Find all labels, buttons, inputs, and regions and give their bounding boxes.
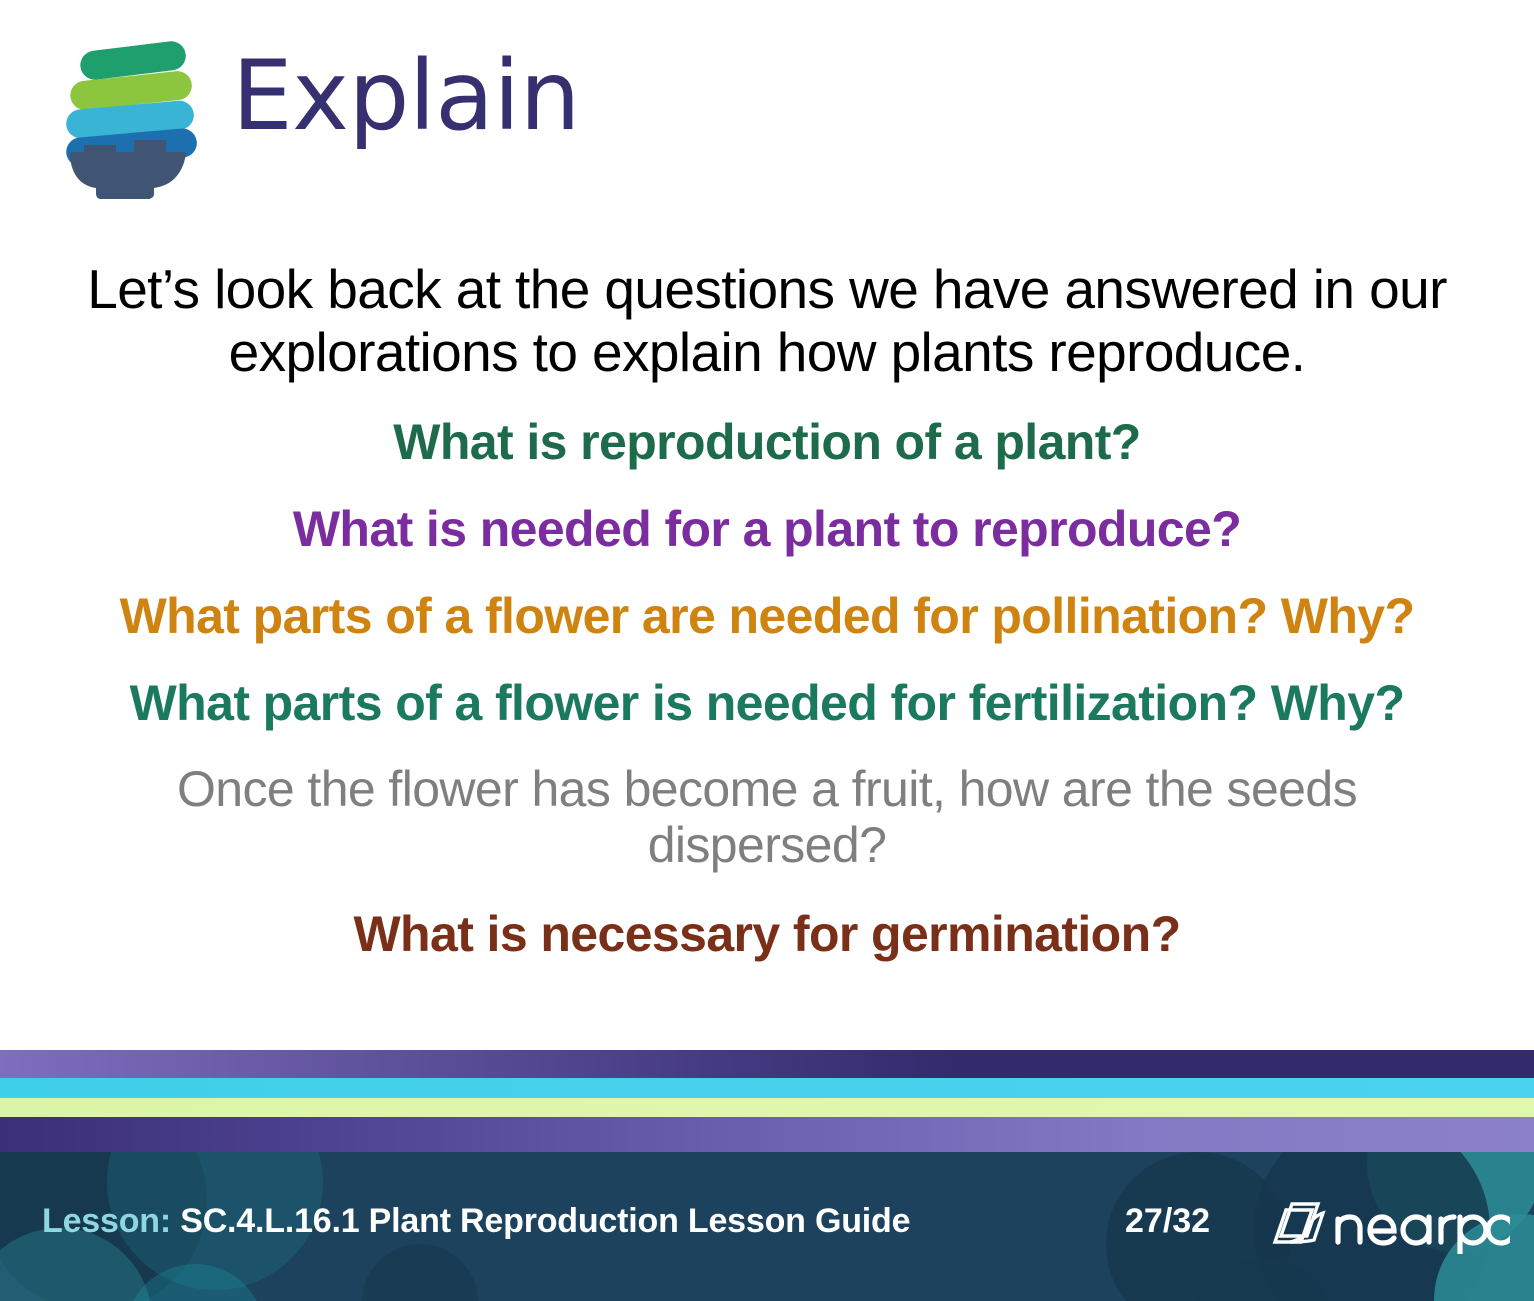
slide-header: Explain [0, 0, 1534, 225]
nearpod-mark-icon [1275, 1204, 1323, 1242]
intro-text: Let’s look back at the questions we have… [52, 258, 1482, 383]
question-item-3: What parts of a flower are needed for po… [52, 589, 1482, 644]
slide-footer: Lesson: SC.4.L.16.1 Plant Reproduction L… [0, 1152, 1534, 1301]
page-indicator: 27/32 [1125, 1202, 1210, 1241]
question-item-5: Once the flower has become a fruit, how … [52, 761, 1482, 873]
lesson-title: SC.4.L.16.1 Plant Reproduction Lesson Gu… [180, 1202, 910, 1240]
cfl-lightbulb-icon [58, 32, 218, 200]
lesson-label-and-title: Lesson: SC.4.L.16.1 Plant Reproduction L… [42, 1202, 910, 1241]
page-title: Explain [232, 48, 580, 144]
decorative-stripe-band [0, 1050, 1534, 1152]
question-item-4: What parts of a flower is needed for fer… [52, 676, 1482, 731]
stripe-lime [0, 1098, 1534, 1117]
lesson-label: Lesson: [42, 1202, 171, 1240]
question-item-2: What is needed for a plant to reproduce? [52, 502, 1482, 557]
stripe-indigo [0, 1050, 1534, 1078]
question-item-6: What is necessary for germination? [52, 907, 1482, 962]
slide-body: Let’s look back at the questions we have… [0, 258, 1534, 962]
slide: Explain Let’s look back at the questions… [0, 0, 1534, 1301]
question-item-1: What is reproduction of a plant? [52, 415, 1482, 470]
stripe-cyan [0, 1078, 1534, 1098]
stripe-purple [0, 1117, 1534, 1152]
nearpod-logo: nearpod [1268, 1198, 1510, 1254]
